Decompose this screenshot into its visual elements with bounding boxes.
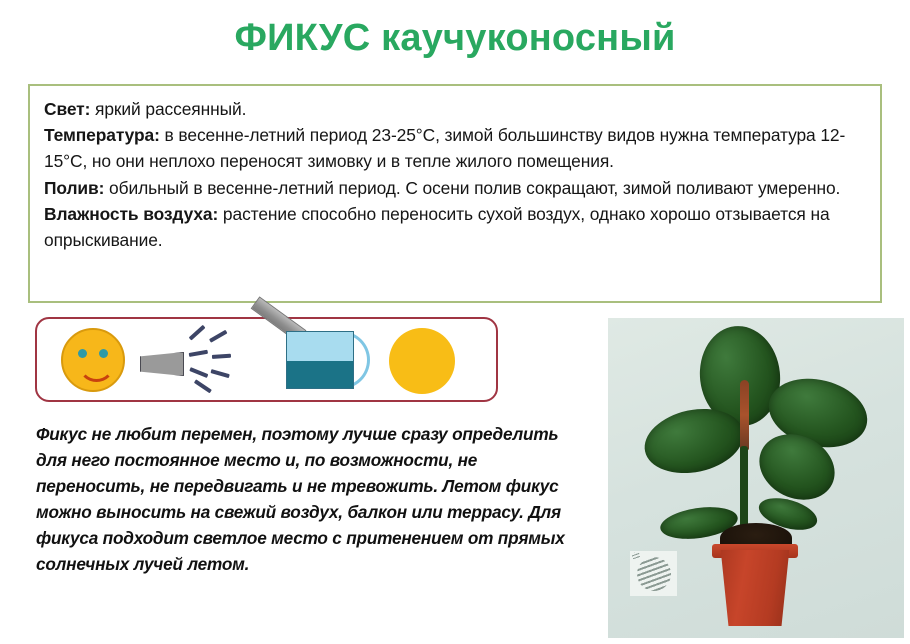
plant-new-shoot (740, 380, 749, 450)
plant-stem (740, 446, 748, 532)
watermark-disc-icon (637, 557, 671, 591)
sun-icon (389, 328, 455, 394)
spray-nozzle-icon (140, 333, 236, 389)
smiley-eye-left-icon (78, 349, 87, 358)
care-text-temperature: в весенне-летний период 23-25°C, зимой б… (44, 125, 845, 171)
watermark-small-mark-icon (632, 552, 640, 560)
spray-dash-icon (189, 367, 208, 378)
spray-dash-icon (194, 379, 212, 393)
plant-description: Фикус не любит перемен, поэтому лучше ср… (36, 421, 566, 577)
care-icon-strip (35, 317, 498, 402)
spray-dash-icon (209, 330, 227, 343)
watering-can-water-icon (287, 361, 353, 388)
care-label-temperature: Температура: (44, 125, 160, 145)
striped-circle-watermark (630, 551, 677, 596)
care-line-temperature: Температура: в весенне-летний период 23-… (44, 122, 866, 174)
spray-dash-icon (189, 350, 208, 357)
care-text-light: яркий рассеянный. (90, 99, 246, 119)
care-label-light: Свет: (44, 99, 90, 119)
spray-nozzle-body-icon (140, 352, 184, 376)
spray-dash-icon (210, 369, 229, 378)
spray-dash-icon (189, 325, 206, 341)
smiley-mouth-icon (78, 360, 115, 382)
watering-can-icon (242, 327, 370, 395)
care-label-watering: Полив: (44, 178, 104, 198)
terracotta-pot (716, 550, 794, 626)
smiley-face-icon (61, 328, 125, 392)
care-line-watering: Полив: обильный в весенне-летний период.… (44, 175, 866, 201)
page-title: ФИКУС каучуконосный (0, 18, 910, 60)
spray-dash-icon (212, 354, 231, 359)
watering-can-body-icon (286, 331, 354, 389)
care-label-humidity: Влажность воздуха: (44, 204, 218, 224)
plant-photo (608, 318, 904, 638)
smiley-eye-right-icon (99, 349, 108, 358)
care-info-box: Свет: яркий рассеянный. Температура: в в… (28, 84, 882, 303)
care-line-humidity: Влажность воздуха: растение способно пер… (44, 201, 866, 253)
care-text-watering: обильный в весенне-летний период. С осен… (104, 178, 840, 198)
care-line-light: Свет: яркий рассеянный. (44, 96, 866, 122)
